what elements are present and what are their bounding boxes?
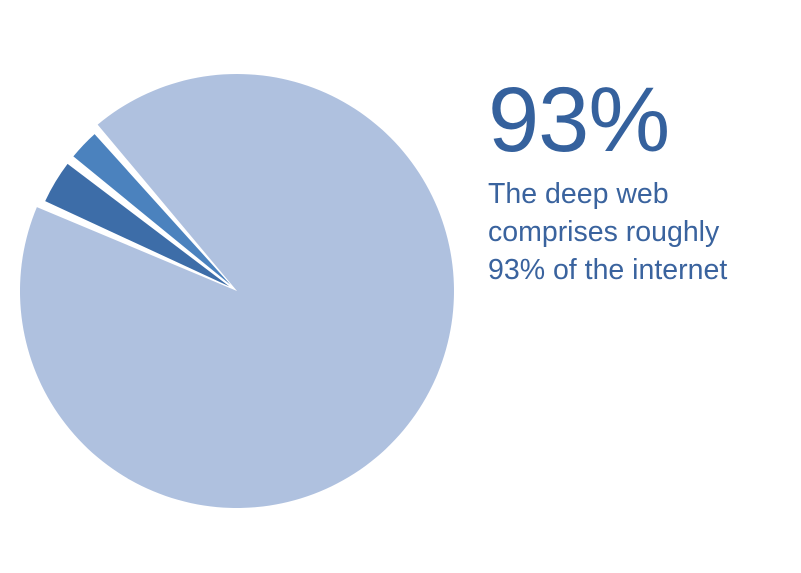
infographic-root: 93% The deep web comprises roughly 93% o…	[0, 0, 801, 573]
pie-chart-svg	[0, 0, 480, 573]
stat-value: 93%	[488, 78, 788, 163]
pie-slice-deep-web[interactable]	[20, 74, 454, 508]
pie-chart-area	[0, 0, 480, 573]
stat-description: The deep web comprises roughly 93% of th…	[488, 175, 763, 289]
stat-callout: 93% The deep web comprises roughly 93% o…	[488, 78, 788, 289]
